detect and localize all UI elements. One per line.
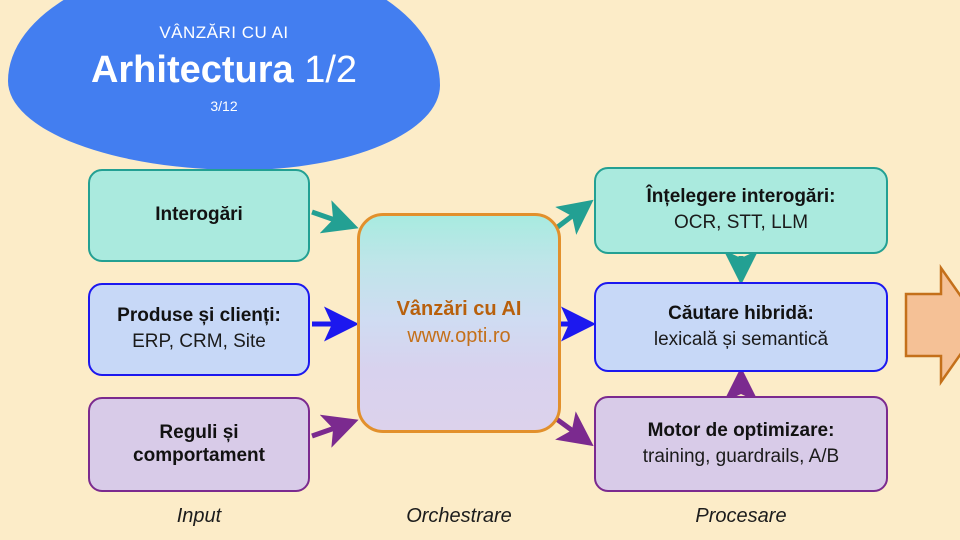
- node-interogari-title: Interogări: [155, 204, 243, 227]
- node-reguli-title: Reguli și: [159, 422, 238, 445]
- node-intelegere-subtitle: OCR, STT, LLM: [674, 211, 808, 235]
- node-cautare-subtitle: lexicală și semantică: [654, 328, 828, 352]
- node-orchestrator-vanzari-cu-ai[interactable]: Vânzări cu AI www.opti.ro: [357, 213, 561, 433]
- node-cautare-hibrida[interactable]: Căutare hibridă: lexicală și semantică: [594, 282, 888, 372]
- lane-label-orchestrare: Orchestrare: [340, 505, 578, 528]
- node-motor-de-optimizare[interactable]: Motor de optimizare: training, guardrail…: [594, 396, 888, 492]
- node-center-title: Vânzări cu AI: [397, 297, 522, 322]
- lane-label-procesare: Procesare: [594, 505, 888, 528]
- node-produse-si-clienti[interactable]: Produse și clienți: ERP, CRM, Site: [88, 283, 310, 376]
- node-motor-subtitle: training, guardrails, A/B: [643, 445, 839, 469]
- node-cautare-title: Căutare hibridă:: [668, 303, 814, 326]
- arrow-reguli-to-center: [312, 422, 352, 436]
- node-produse-subtitle: ERP, CRM, Site: [132, 330, 266, 354]
- node-motor-title: Motor de optimizare:: [648, 420, 835, 443]
- node-produse-title: Produse și clienți:: [117, 305, 281, 328]
- output-arrow-icon: [906, 268, 960, 382]
- arrow-interogari-to-center: [312, 212, 352, 226]
- lane-label-input: Input: [88, 505, 310, 528]
- node-reguli-si-comportament[interactable]: Reguli și comportament: [88, 397, 310, 492]
- node-intelegere-title: Înțelegere interogări:: [647, 186, 836, 209]
- header-blob-shape: [8, 0, 440, 170]
- node-reguli-title-line2: comportament: [133, 445, 265, 468]
- node-intelegere-interogari[interactable]: Înțelegere interogări: OCR, STT, LLM: [594, 167, 888, 254]
- slide-canvas: VÂNZĂRI CU AI Arhitectura 1/2 3/12: [0, 0, 960, 540]
- node-center-url[interactable]: www.opti.ro: [407, 323, 510, 349]
- node-interogari[interactable]: Interogări: [88, 169, 310, 262]
